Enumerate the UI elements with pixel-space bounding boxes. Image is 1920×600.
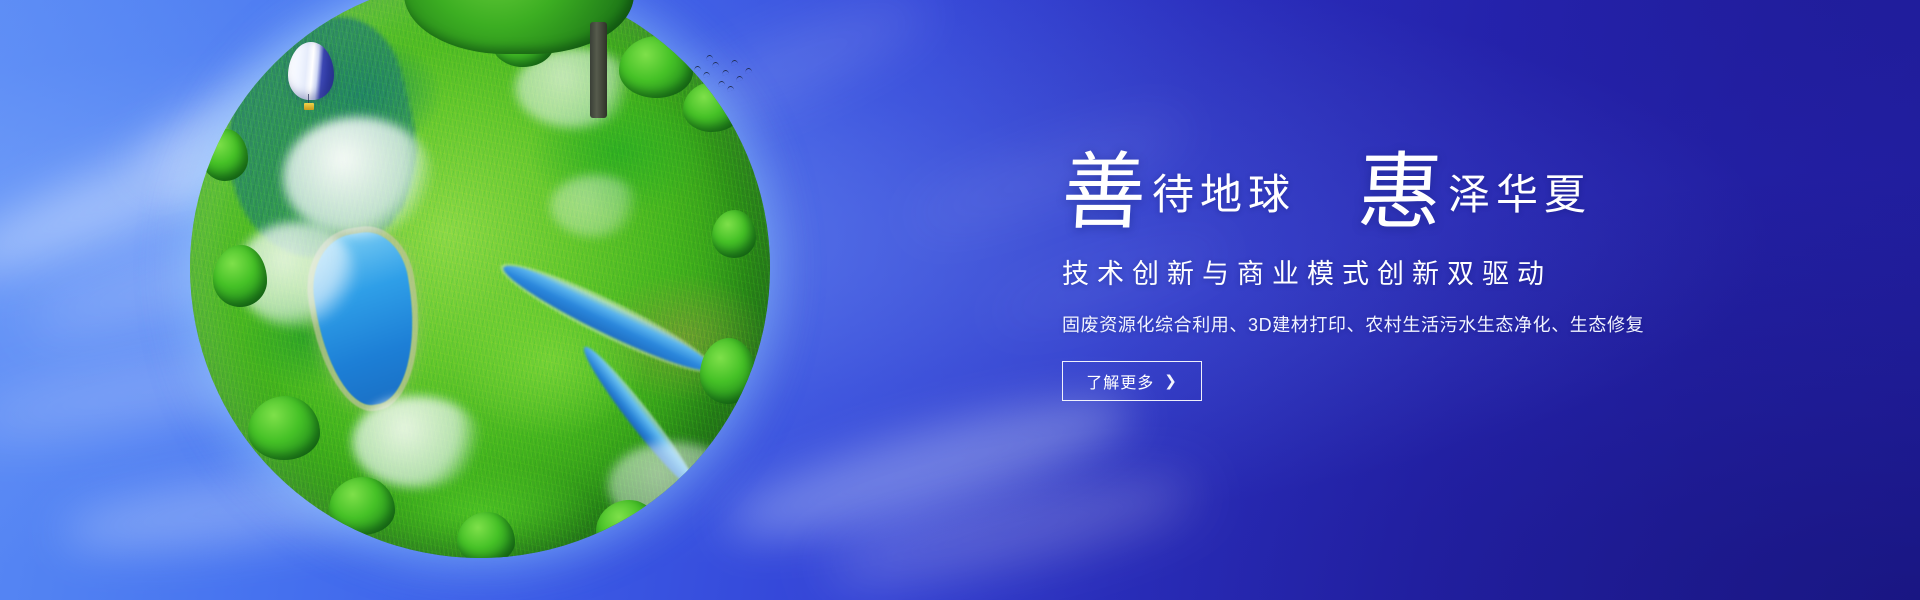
tree (202, 129, 248, 181)
banner-subtitle: 技术创新与商业模式创新双驱动 (1062, 252, 1822, 291)
globe-cloud (352, 396, 482, 488)
headline-lead-char-1: 善 (1060, 153, 1148, 232)
balloon-basket (304, 103, 314, 110)
headline-rest-1: 待地球 (1152, 174, 1296, 226)
chevron-right-icon: ❯ (1164, 374, 1178, 389)
balloon-envelope (288, 42, 334, 100)
tree (712, 210, 756, 258)
globe-cloud (550, 175, 640, 237)
banner-content: 善 待地球 惠 泽华夏 技术创新与商业模式创新双驱动 固废资源化综合利用、3D建… (1062, 118, 1822, 401)
tree (329, 477, 395, 535)
banner-description: 固废资源化综合利用、3D建材打印、农村生活污水生态净化、生态修复 (1062, 311, 1822, 337)
globe-cloud (283, 117, 433, 237)
hero-banner: 善 待地球 惠 泽华夏 技术创新与商业模式创新双驱动 固废资源化综合利用、3D建… (0, 0, 1920, 600)
headline-phrase-1: 善 待地球 (1062, 147, 1296, 226)
tree (213, 245, 267, 307)
headline-lead-char-2: 惠 (1356, 153, 1444, 232)
headline-phrase-2: 惠 泽华夏 (1358, 147, 1592, 226)
headline-rest-2: 泽华夏 (1448, 174, 1592, 226)
tree (596, 500, 660, 556)
foreground-tree (404, 0, 634, 94)
learn-more-button[interactable]: 了解更多 ❯ (1062, 361, 1202, 401)
page-title: 善 待地球 惠 泽华夏 (1062, 118, 1822, 226)
hot-air-balloon-icon (288, 42, 334, 100)
tree (248, 396, 320, 460)
learn-more-label: 了解更多 (1086, 369, 1154, 393)
